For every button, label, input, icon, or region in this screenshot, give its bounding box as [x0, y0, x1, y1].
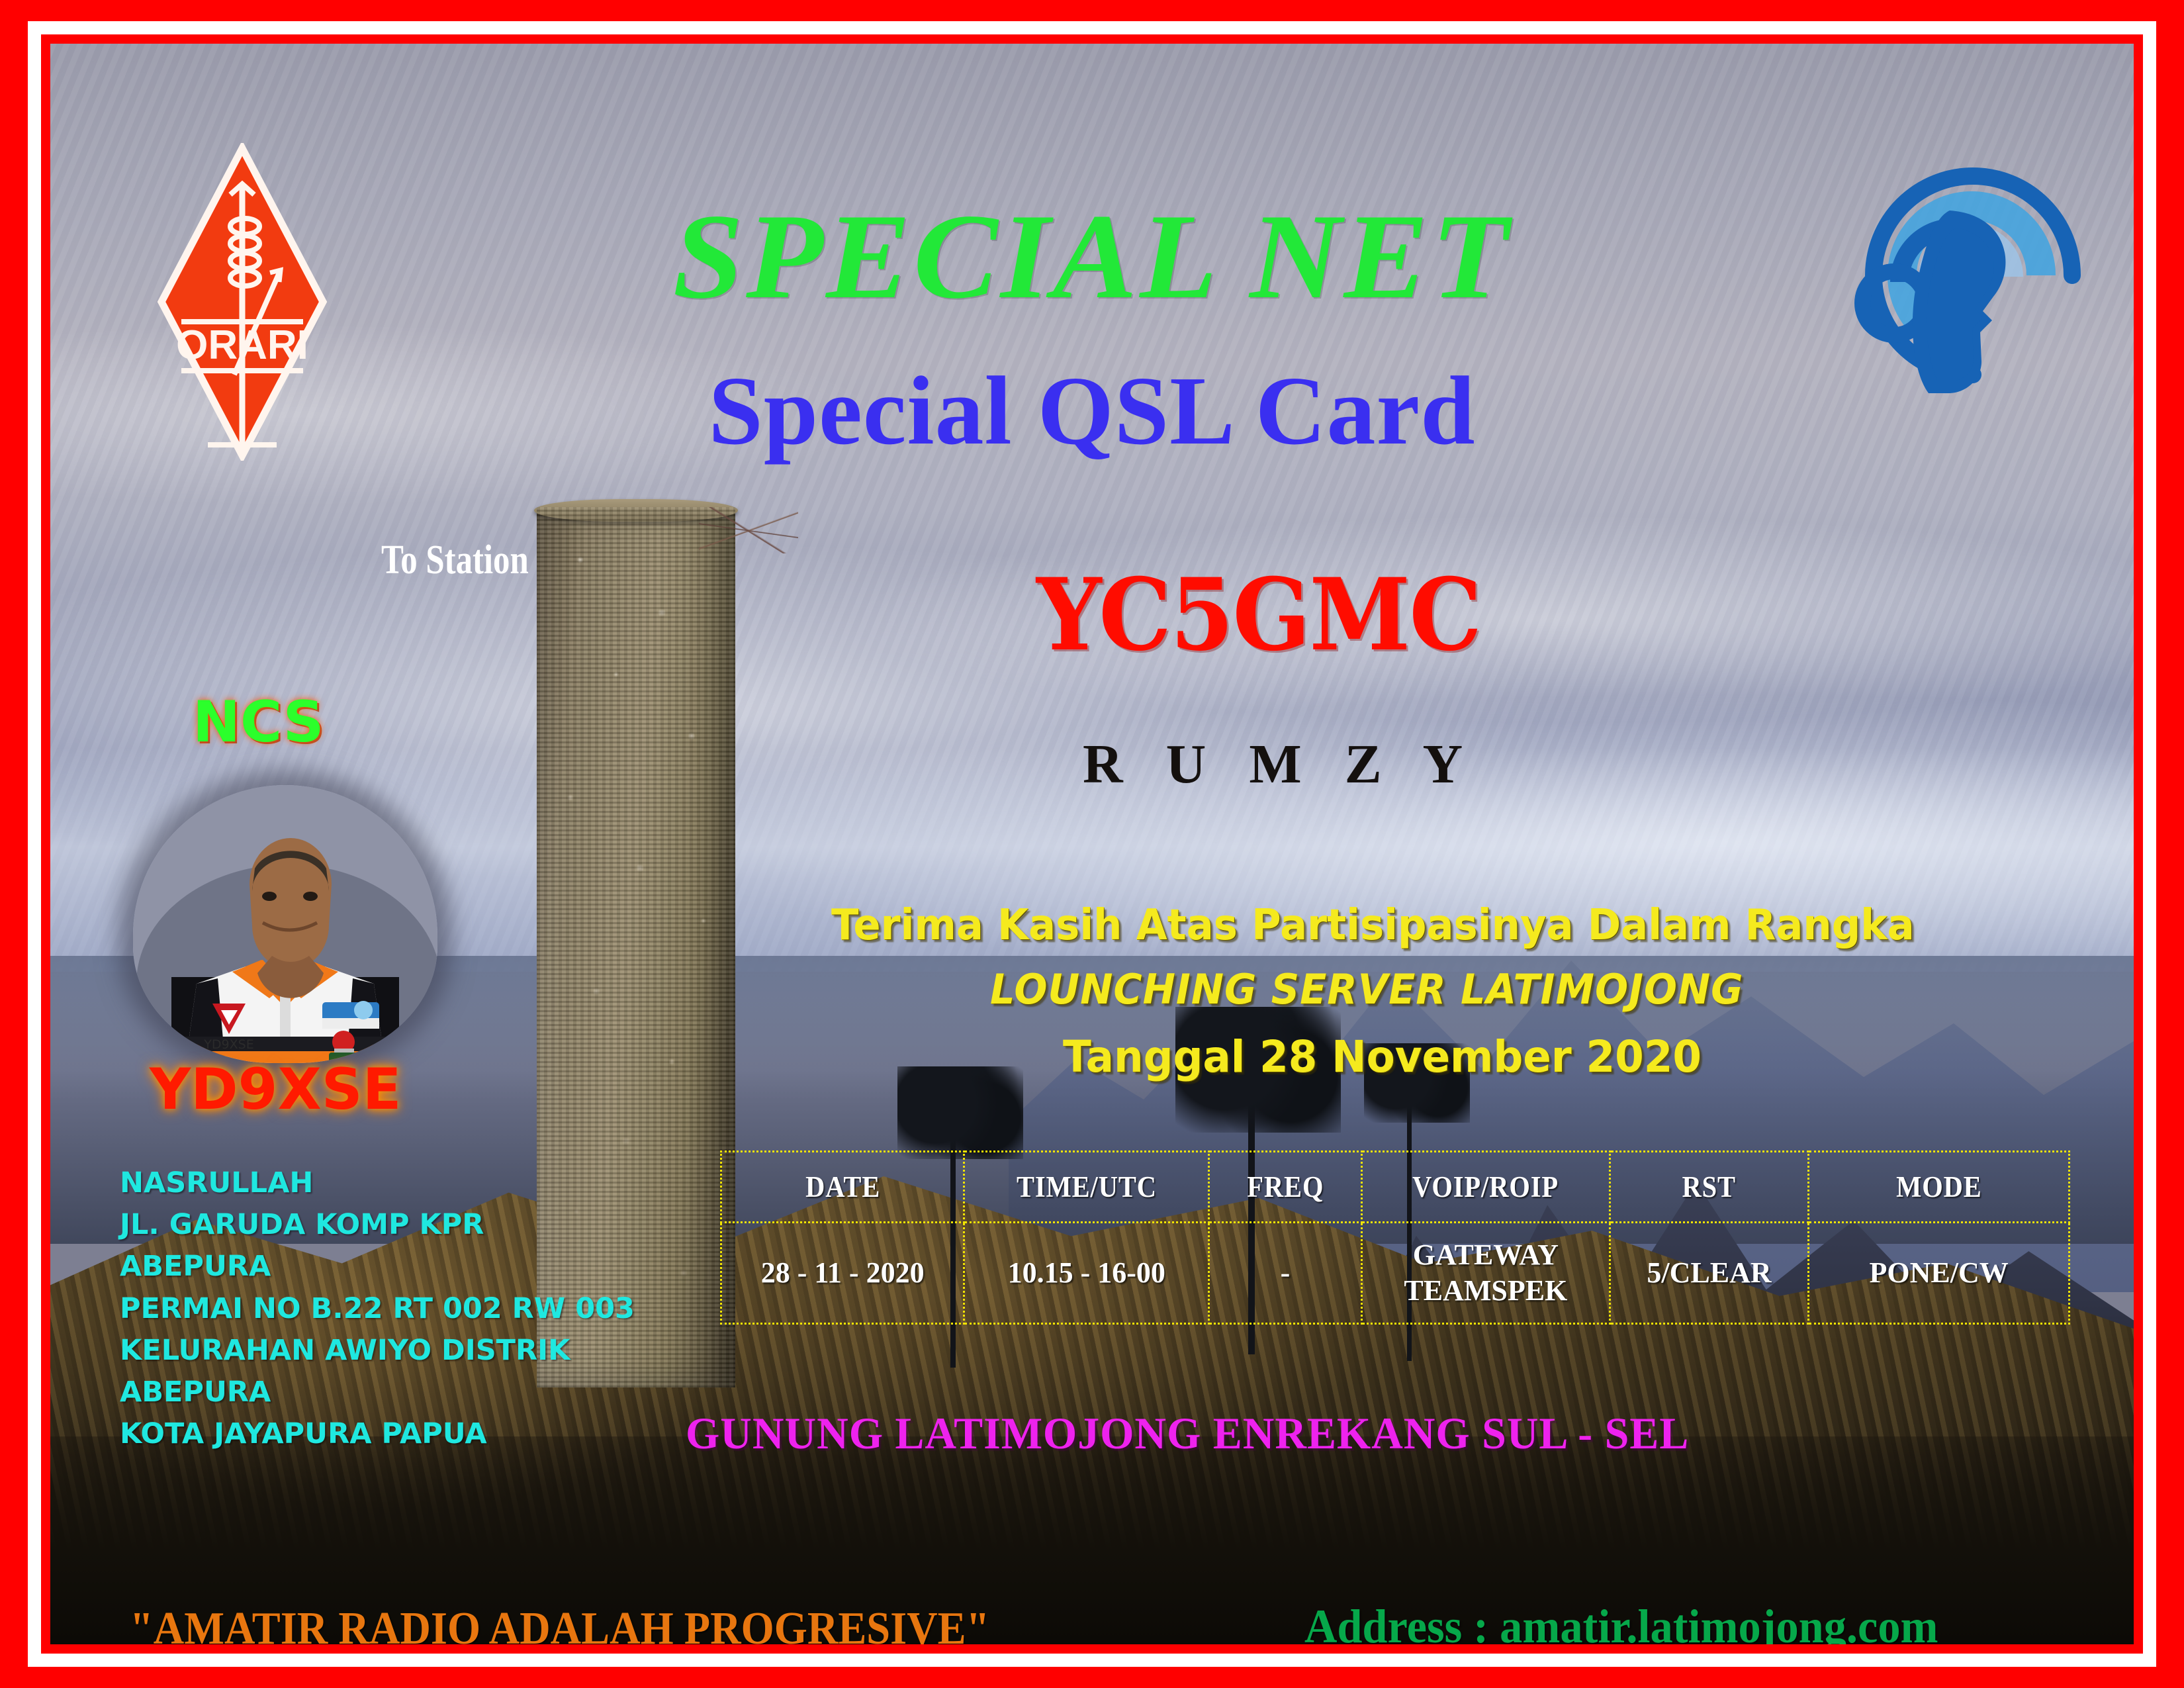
address-line: NASRULLAH — [120, 1162, 649, 1204]
address-line: ABEPURA — [120, 1372, 649, 1413]
tree-crown — [897, 1066, 1023, 1159]
ncs-callsign: YD9XSE — [150, 1056, 402, 1123]
cell-voip: GATEWAY TEAMSPEK — [1361, 1223, 1610, 1324]
cell-time: 10.15 - 16-00 — [964, 1223, 1209, 1324]
address-line: PERMAI NO B.22 RT 002 RW 003 — [120, 1288, 649, 1330]
cell-mode: PONE/CW — [1809, 1223, 2070, 1324]
to-station-label: To Station — [381, 537, 529, 584]
callsign-value: YC5GMC — [1036, 557, 1480, 673]
cell-freq: - — [1209, 1223, 1362, 1324]
web-address: Address : amatir.latimojong.com — [1304, 1599, 1938, 1644]
cell-rst: 5/CLEAR — [1610, 1223, 1808, 1324]
table-header-rst: RST — [1619, 1152, 1798, 1223]
qsl-card: ORARI SPECIAL NET Special QSL Card To St… — [0, 0, 2184, 1688]
table-header-voip: VOIP/ROIP — [1374, 1152, 1598, 1223]
table-header-row: DATE TIME/UTC FREQ VOIP/ROIP RST MODE — [721, 1152, 2070, 1223]
event-line: LOUNCHING SERVER LATIMOJONG — [990, 965, 1743, 1013]
ncs-label: NCS — [193, 689, 324, 755]
address-line: KOTA JAYAPURA PAPUA — [120, 1413, 649, 1455]
table-header-date: DATE — [733, 1152, 952, 1223]
page-subtitle: Special QSL Card — [50, 355, 2134, 467]
postal-address-block: NASRULLAHJL. GARUDA KOMP KPRABEPURAPERMA… — [120, 1162, 649, 1455]
operator-name: R U M Z Y — [1083, 732, 1477, 796]
table-header-freq: FREQ — [1216, 1152, 1354, 1223]
table-row: 28 - 11 - 2020 10.15 - 16-00 - GATEWAY T… — [721, 1223, 2070, 1324]
card-photo-area: ORARI SPECIAL NET Special QSL Card To St… — [50, 44, 2134, 1644]
location-line: GUNUNG LATIMOJONG ENREKANG SUL - SEL — [686, 1407, 1689, 1460]
qso-table: DATE TIME/UTC FREQ VOIP/ROIP RST MODE 28… — [720, 1150, 2070, 1325]
uniform-callsign-patch: YD9XSE — [203, 1037, 253, 1052]
address-line: ABEPURA — [120, 1246, 649, 1288]
page-title: SPECIAL NET — [50, 186, 2134, 326]
event-date-line: Tanggal 28 November 2020 — [1063, 1031, 1702, 1082]
slogan-text: "AMATIR RADIO ADALAH PROGRESIVE" — [130, 1603, 989, 1644]
address-line: KELURAHAN AWIYO DISTRIK — [120, 1330, 649, 1372]
table-header-mode: MODE — [1821, 1152, 2056, 1223]
address-line: JL. GARUDA KOMP KPR — [120, 1204, 649, 1246]
table-header-time: TIME/UTC — [976, 1152, 1197, 1223]
dry-twig — [699, 507, 798, 553]
thanks-line: Terima Kasih Atas Partisipasinya Dalam R… — [831, 901, 1915, 950]
cell-date: 28 - 11 - 2020 — [721, 1223, 964, 1324]
